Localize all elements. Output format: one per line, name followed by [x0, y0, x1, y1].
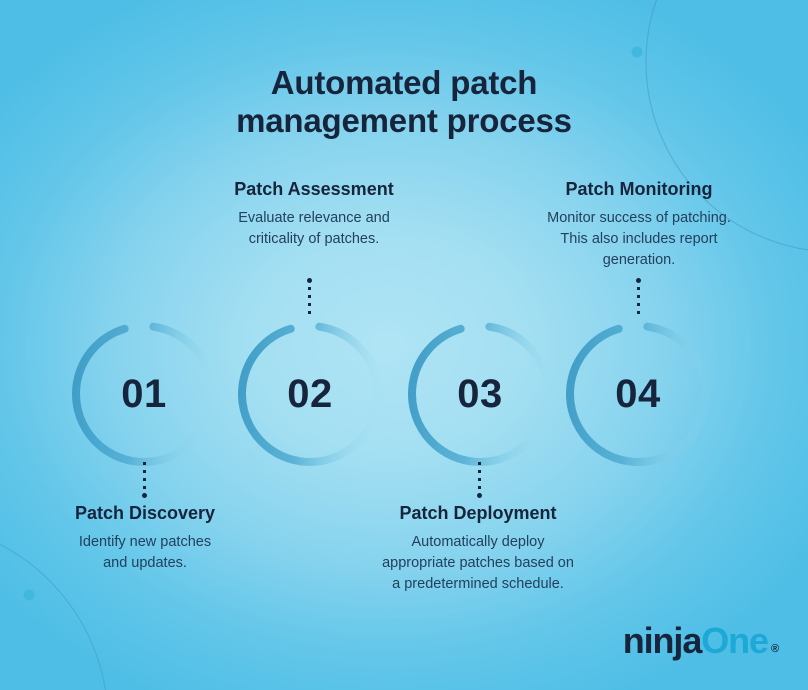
connector-4: [636, 279, 641, 314]
step-title-2: Patch Assessment: [189, 178, 439, 201]
step-desc-3: Automatically deploy appropriate patches…: [350, 532, 606, 596]
step-ring-2: 02: [234, 318, 386, 470]
step-number-3: 03: [404, 318, 556, 470]
step-number-2: 02: [234, 318, 386, 470]
logo-text-one: One: [701, 620, 768, 662]
deco-dot-bottom-left: [24, 590, 35, 601]
step-text-2: Patch Assessment Evaluate relevance and …: [189, 178, 439, 250]
step-title-4: Patch Monitoring: [513, 178, 765, 201]
ninjaone-logo: ninja One ®: [623, 620, 778, 662]
ring-row: 01 02: [0, 318, 808, 470]
connector-dot: [142, 493, 147, 498]
connector-dash: [143, 462, 146, 497]
logo-text-ninja: ninja: [623, 620, 702, 662]
step-text-3: Patch Deployment Automatically deploy ap…: [350, 502, 606, 596]
connector-2: [307, 279, 312, 314]
connector-dot: [307, 278, 312, 283]
connector-dot: [477, 493, 482, 498]
connector-dash: [637, 279, 640, 314]
step-ring-1: 01: [68, 318, 220, 470]
deco-dot-top-right: [632, 47, 643, 58]
connector-1: [142, 462, 147, 497]
step-desc-1: Identify new patches and updates.: [25, 532, 265, 575]
connector-3: [477, 462, 482, 497]
logo-registered-mark: ®: [771, 643, 778, 655]
connector-dot: [636, 278, 641, 283]
step-number-4: 04: [562, 318, 714, 470]
step-desc-2: Evaluate relevance and criticality of pa…: [189, 208, 439, 251]
step-title-3: Patch Deployment: [350, 502, 606, 525]
step-number-1: 01: [68, 318, 220, 470]
page-title: Automated patch management process: [0, 64, 808, 141]
step-text-4: Patch Monitoring Monitor success of patc…: [513, 178, 765, 272]
connector-dash: [308, 279, 311, 314]
step-ring-4: 04: [562, 318, 714, 470]
infographic-canvas: Automated patch management process Patch…: [0, 0, 808, 690]
step-text-1: Patch Discovery Identify new patches and…: [25, 502, 265, 574]
step-desc-4: Monitor success of patching. This also i…: [513, 208, 765, 272]
step-title-1: Patch Discovery: [25, 502, 265, 525]
step-ring-3: 03: [404, 318, 556, 470]
connector-dash: [478, 462, 481, 497]
